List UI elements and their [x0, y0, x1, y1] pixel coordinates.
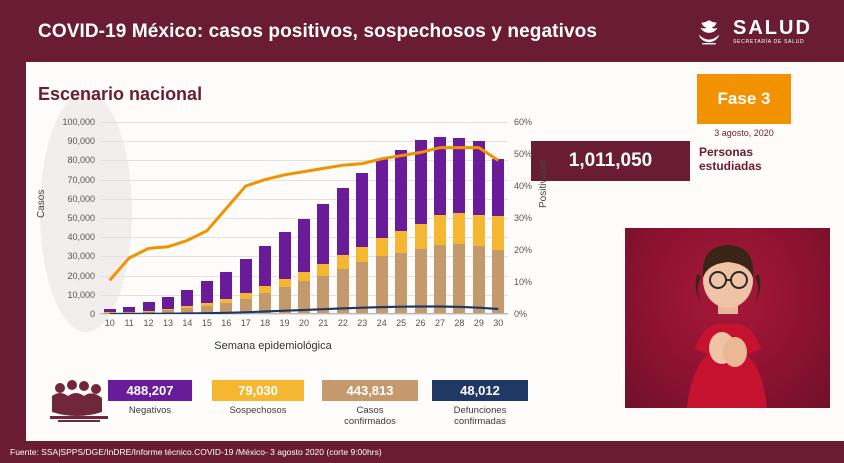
- positivity-line: [110, 148, 499, 281]
- x-axis-tick: 24: [377, 318, 387, 328]
- x-axis-tick: 23: [357, 318, 367, 328]
- logo-subtitle: SECRETARÍA DE SALUD: [733, 40, 812, 45]
- legend-value: 443,813: [322, 380, 418, 401]
- studied-label: Personas estudiadas: [699, 145, 819, 173]
- y-axis-tick: 90,000: [67, 136, 95, 146]
- legend-caption-line1: Casos: [322, 405, 418, 416]
- y-axis-tick: 70,000: [67, 175, 95, 185]
- studied-label-line2: estudiadas: [699, 159, 819, 173]
- section-title: Escenario nacional: [38, 84, 202, 105]
- x-axis-tick: 29: [474, 318, 484, 328]
- interpreter-figure: [625, 228, 830, 408]
- y2-axis-tick: 40%: [514, 181, 532, 191]
- legend-value: 48,012: [432, 380, 528, 401]
- x-axis-tick: 11: [124, 318, 133, 328]
- plot-area: 010,00020,00030,00040,00050,00060,00070,…: [100, 122, 508, 314]
- y-axis-tick: 10,000: [67, 290, 95, 300]
- legend-caption-line1: Defunciones: [432, 405, 528, 416]
- legend-caption: Negativos: [108, 405, 192, 416]
- x-axis-tick: 17: [241, 318, 251, 328]
- x-axis-tick: 13: [163, 318, 173, 328]
- legend-caption: Defuncionesconfirmadas: [432, 405, 528, 427]
- y-axis-tick: 80,000: [67, 155, 95, 165]
- y-axis-tick: 100,000: [62, 117, 95, 127]
- legend-caption-line2: confirmadas: [432, 416, 528, 427]
- y-axis-tick: 50,000: [67, 213, 95, 223]
- line-overlay: [100, 122, 508, 314]
- x-axis-tick: 18: [260, 318, 270, 328]
- sign-language-video[interactable]: [625, 228, 830, 408]
- x-axis-tick: 25: [396, 318, 406, 328]
- x-axis-tick: 12: [144, 318, 154, 328]
- x-axis-tick: 14: [182, 318, 192, 328]
- x-axis-tick: 16: [221, 318, 231, 328]
- x-axis-tick: 19: [280, 318, 290, 328]
- phase-date: 3 agosto, 2020: [697, 128, 791, 138]
- legend-item: 488,207Negativos: [108, 380, 192, 416]
- x-axis-tick: 27: [435, 318, 445, 328]
- legend-caption: Casosconfirmados: [322, 405, 418, 427]
- y2-axis-tick: 0%: [514, 309, 527, 319]
- x-axis-tick: 10: [105, 318, 115, 328]
- y-axis-tick: 30,000: [67, 251, 95, 261]
- chart-legend: 488,207Negativos79,030Sospechosos443,813…: [108, 380, 538, 436]
- y2-axis-tick: 10%: [514, 277, 532, 287]
- y-axis-tick: 60,000: [67, 194, 95, 204]
- y-axis-tick: 20,000: [67, 271, 95, 281]
- x-axis-tick: 26: [416, 318, 426, 328]
- y-axis-tick: 0: [90, 309, 95, 319]
- y-axis-label: Casos: [36, 190, 47, 218]
- y2-axis-tick: 50%: [514, 149, 532, 159]
- legend-caption-line2: confirmados: [322, 416, 418, 427]
- left-accent-bar: [0, 0, 26, 441]
- deaths-line: [110, 307, 499, 315]
- x-axis-tick: 22: [338, 318, 348, 328]
- y2-axis-tick: 60%: [514, 117, 532, 127]
- y-axis-tick: 40,000: [67, 232, 95, 242]
- government-emblem-icon: [48, 374, 110, 428]
- page-title: COVID-19 México: casos positivos, sospec…: [38, 21, 597, 43]
- legend-value: 488,207: [108, 380, 192, 401]
- y2-axis-tick: 30%: [514, 213, 532, 223]
- source-footer: Fuente: SSA|SPPS/DGE/InDRE/Informe técni…: [0, 441, 844, 463]
- salud-logo: SALUD SECRETARÍA DE SALUD: [692, 12, 832, 52]
- logo-wordmark: SALUD: [733, 18, 812, 38]
- x-axis-label: Semana epidemiológica: [38, 340, 508, 352]
- x-axis-tick: 20: [299, 318, 309, 328]
- y2-axis-tick: 20%: [514, 245, 532, 255]
- x-axis-tick: 28: [454, 318, 464, 328]
- x-axis-tick: 30: [493, 318, 503, 328]
- gridline: [100, 314, 508, 315]
- chart-container: Casos Positividad Semana epidemiológica …: [38, 118, 548, 368]
- x-axis-tick: 21: [318, 318, 328, 328]
- slide-canvas: COVID-19 México: casos positivos, sospec…: [0, 0, 844, 463]
- legend-item: 443,813Casosconfirmados: [322, 380, 418, 427]
- mexican-eagle-icon: [692, 15, 726, 49]
- phase-badge: Fase 3: [697, 74, 791, 124]
- legend-caption: Sospechosos: [212, 405, 304, 416]
- x-axis-tick: 15: [202, 318, 212, 328]
- source-text: Fuente: SSA|SPPS/DGE/InDRE/Informe técni…: [10, 447, 382, 457]
- y2-axis-label: Positividad: [538, 160, 549, 208]
- studied-label-line1: Personas: [699, 145, 819, 159]
- legend-item: 48,012Defuncionesconfirmadas: [432, 380, 528, 427]
- legend-item: 79,030Sospechosos: [212, 380, 304, 416]
- studied-count: 1,011,050: [531, 141, 690, 181]
- legend-value: 79,030: [212, 380, 304, 401]
